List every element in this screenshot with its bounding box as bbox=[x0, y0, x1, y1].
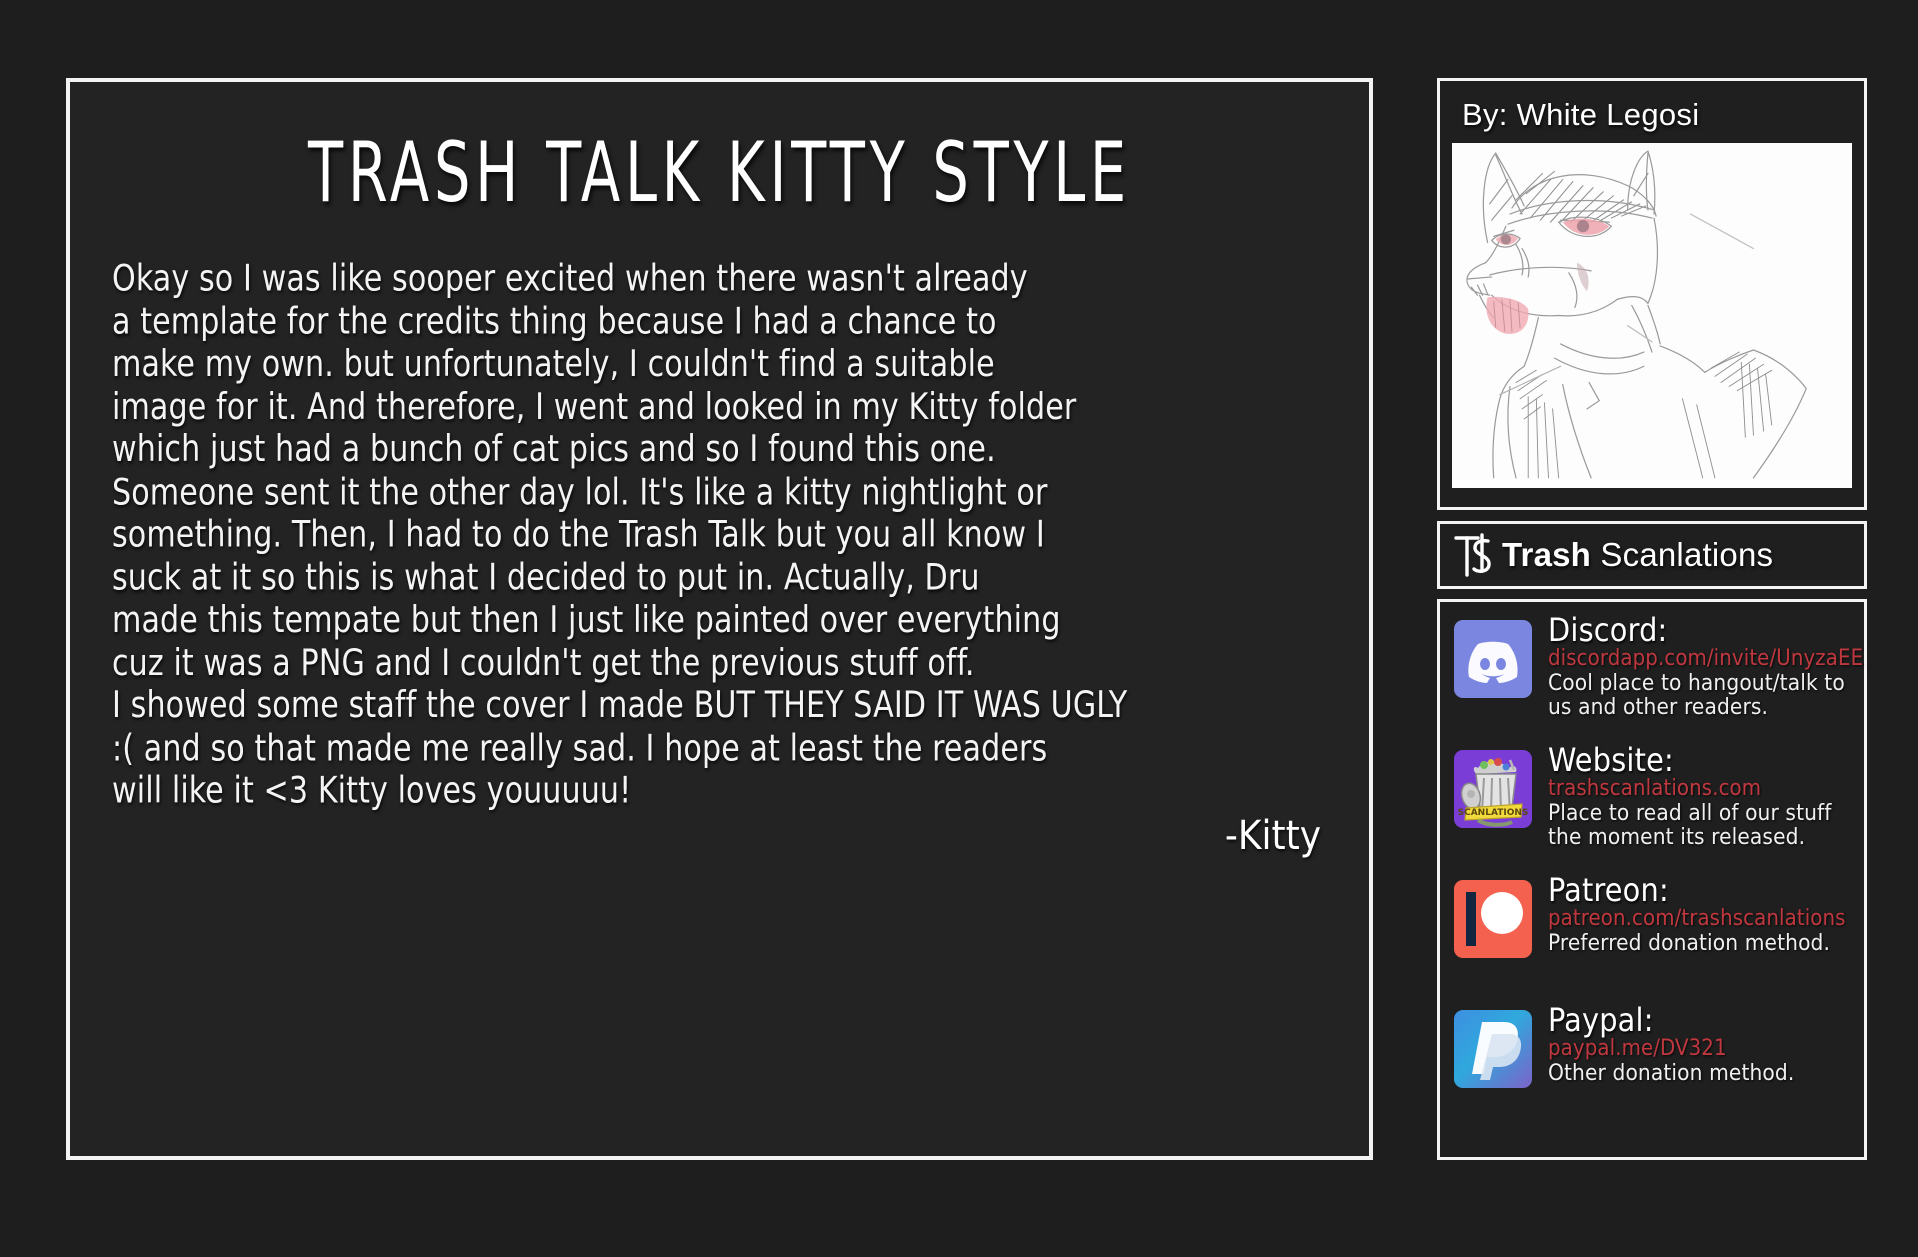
page-title: TRASH TALK KITTY STYLE bbox=[141, 130, 1298, 217]
credits-page: TRASH TALK KITTY STYLE Okay so I was lik… bbox=[0, 0, 1918, 1257]
group-name-light: Scanlations bbox=[1591, 536, 1773, 573]
link-title-paypal: Paypal: bbox=[1548, 1004, 1854, 1037]
link-title-discord: Discord: bbox=[1548, 614, 1854, 647]
link-desc-discord: Cool place to hangout/talk to us and oth… bbox=[1548, 671, 1854, 719]
author-signature: -Kitty bbox=[104, 813, 1335, 859]
link-row-patreon[interactable]: Patreon: patreon.com/trashscanlations Pr… bbox=[1450, 874, 1854, 984]
link-url-paypal[interactable]: paypal.me/DV321 bbox=[1548, 1037, 1854, 1061]
wolf-sketch-icon bbox=[1452, 143, 1852, 488]
svg-text:SCANLATIONS: SCANLATIONS bbox=[1458, 808, 1529, 818]
links-box: Discord: discordapp.com/invite/UnyzaEE C… bbox=[1437, 599, 1867, 1160]
link-row-website[interactable]: SCANLATIONS Website: trashscanlations.co… bbox=[1450, 744, 1854, 854]
link-row-paypal[interactable]: Paypal: paypal.me/DV321 Other donation m… bbox=[1450, 1004, 1854, 1114]
discord-icon bbox=[1454, 620, 1532, 698]
link-row-discord[interactable]: Discord: discordapp.com/invite/UnyzaEE C… bbox=[1450, 614, 1854, 724]
link-desc-patreon: Preferred donation method. bbox=[1548, 931, 1854, 955]
ts-monogram-icon bbox=[1448, 529, 1504, 581]
link-title-patreon: Patreon: bbox=[1548, 874, 1854, 907]
trash-talk-text: Okay so I was like sooper excited when t… bbox=[104, 257, 1335, 812]
artist-credit-label: By: White Legosi bbox=[1452, 91, 1852, 143]
link-desc-website: Place to read all of our stuff the momen… bbox=[1548, 801, 1854, 849]
group-name-label: Trash Scanlations bbox=[1502, 536, 1773, 574]
artist-artwork bbox=[1452, 143, 1852, 488]
link-desc-paypal: Other donation method. bbox=[1548, 1061, 1854, 1085]
link-url-patreon[interactable]: patreon.com/trashscanlations bbox=[1548, 907, 1854, 931]
patreon-icon bbox=[1454, 880, 1532, 958]
paypal-icon bbox=[1454, 1010, 1532, 1088]
website-trashcan-icon: SCANLATIONS bbox=[1454, 750, 1532, 828]
artist-box: By: White Legosi bbox=[1437, 78, 1867, 510]
link-url-discord[interactable]: discordapp.com/invite/UnyzaEE bbox=[1548, 647, 1854, 671]
link-url-website[interactable]: trashscanlations.com bbox=[1548, 777, 1854, 801]
sidebar: By: White Legosi bbox=[1437, 78, 1867, 1160]
link-title-website: Website: bbox=[1548, 744, 1854, 777]
group-name-bold: Trash bbox=[1502, 536, 1591, 573]
trash-talk-panel: TRASH TALK KITTY STYLE Okay so I was lik… bbox=[66, 78, 1373, 1160]
group-logo-box: Trash Scanlations bbox=[1437, 521, 1867, 589]
